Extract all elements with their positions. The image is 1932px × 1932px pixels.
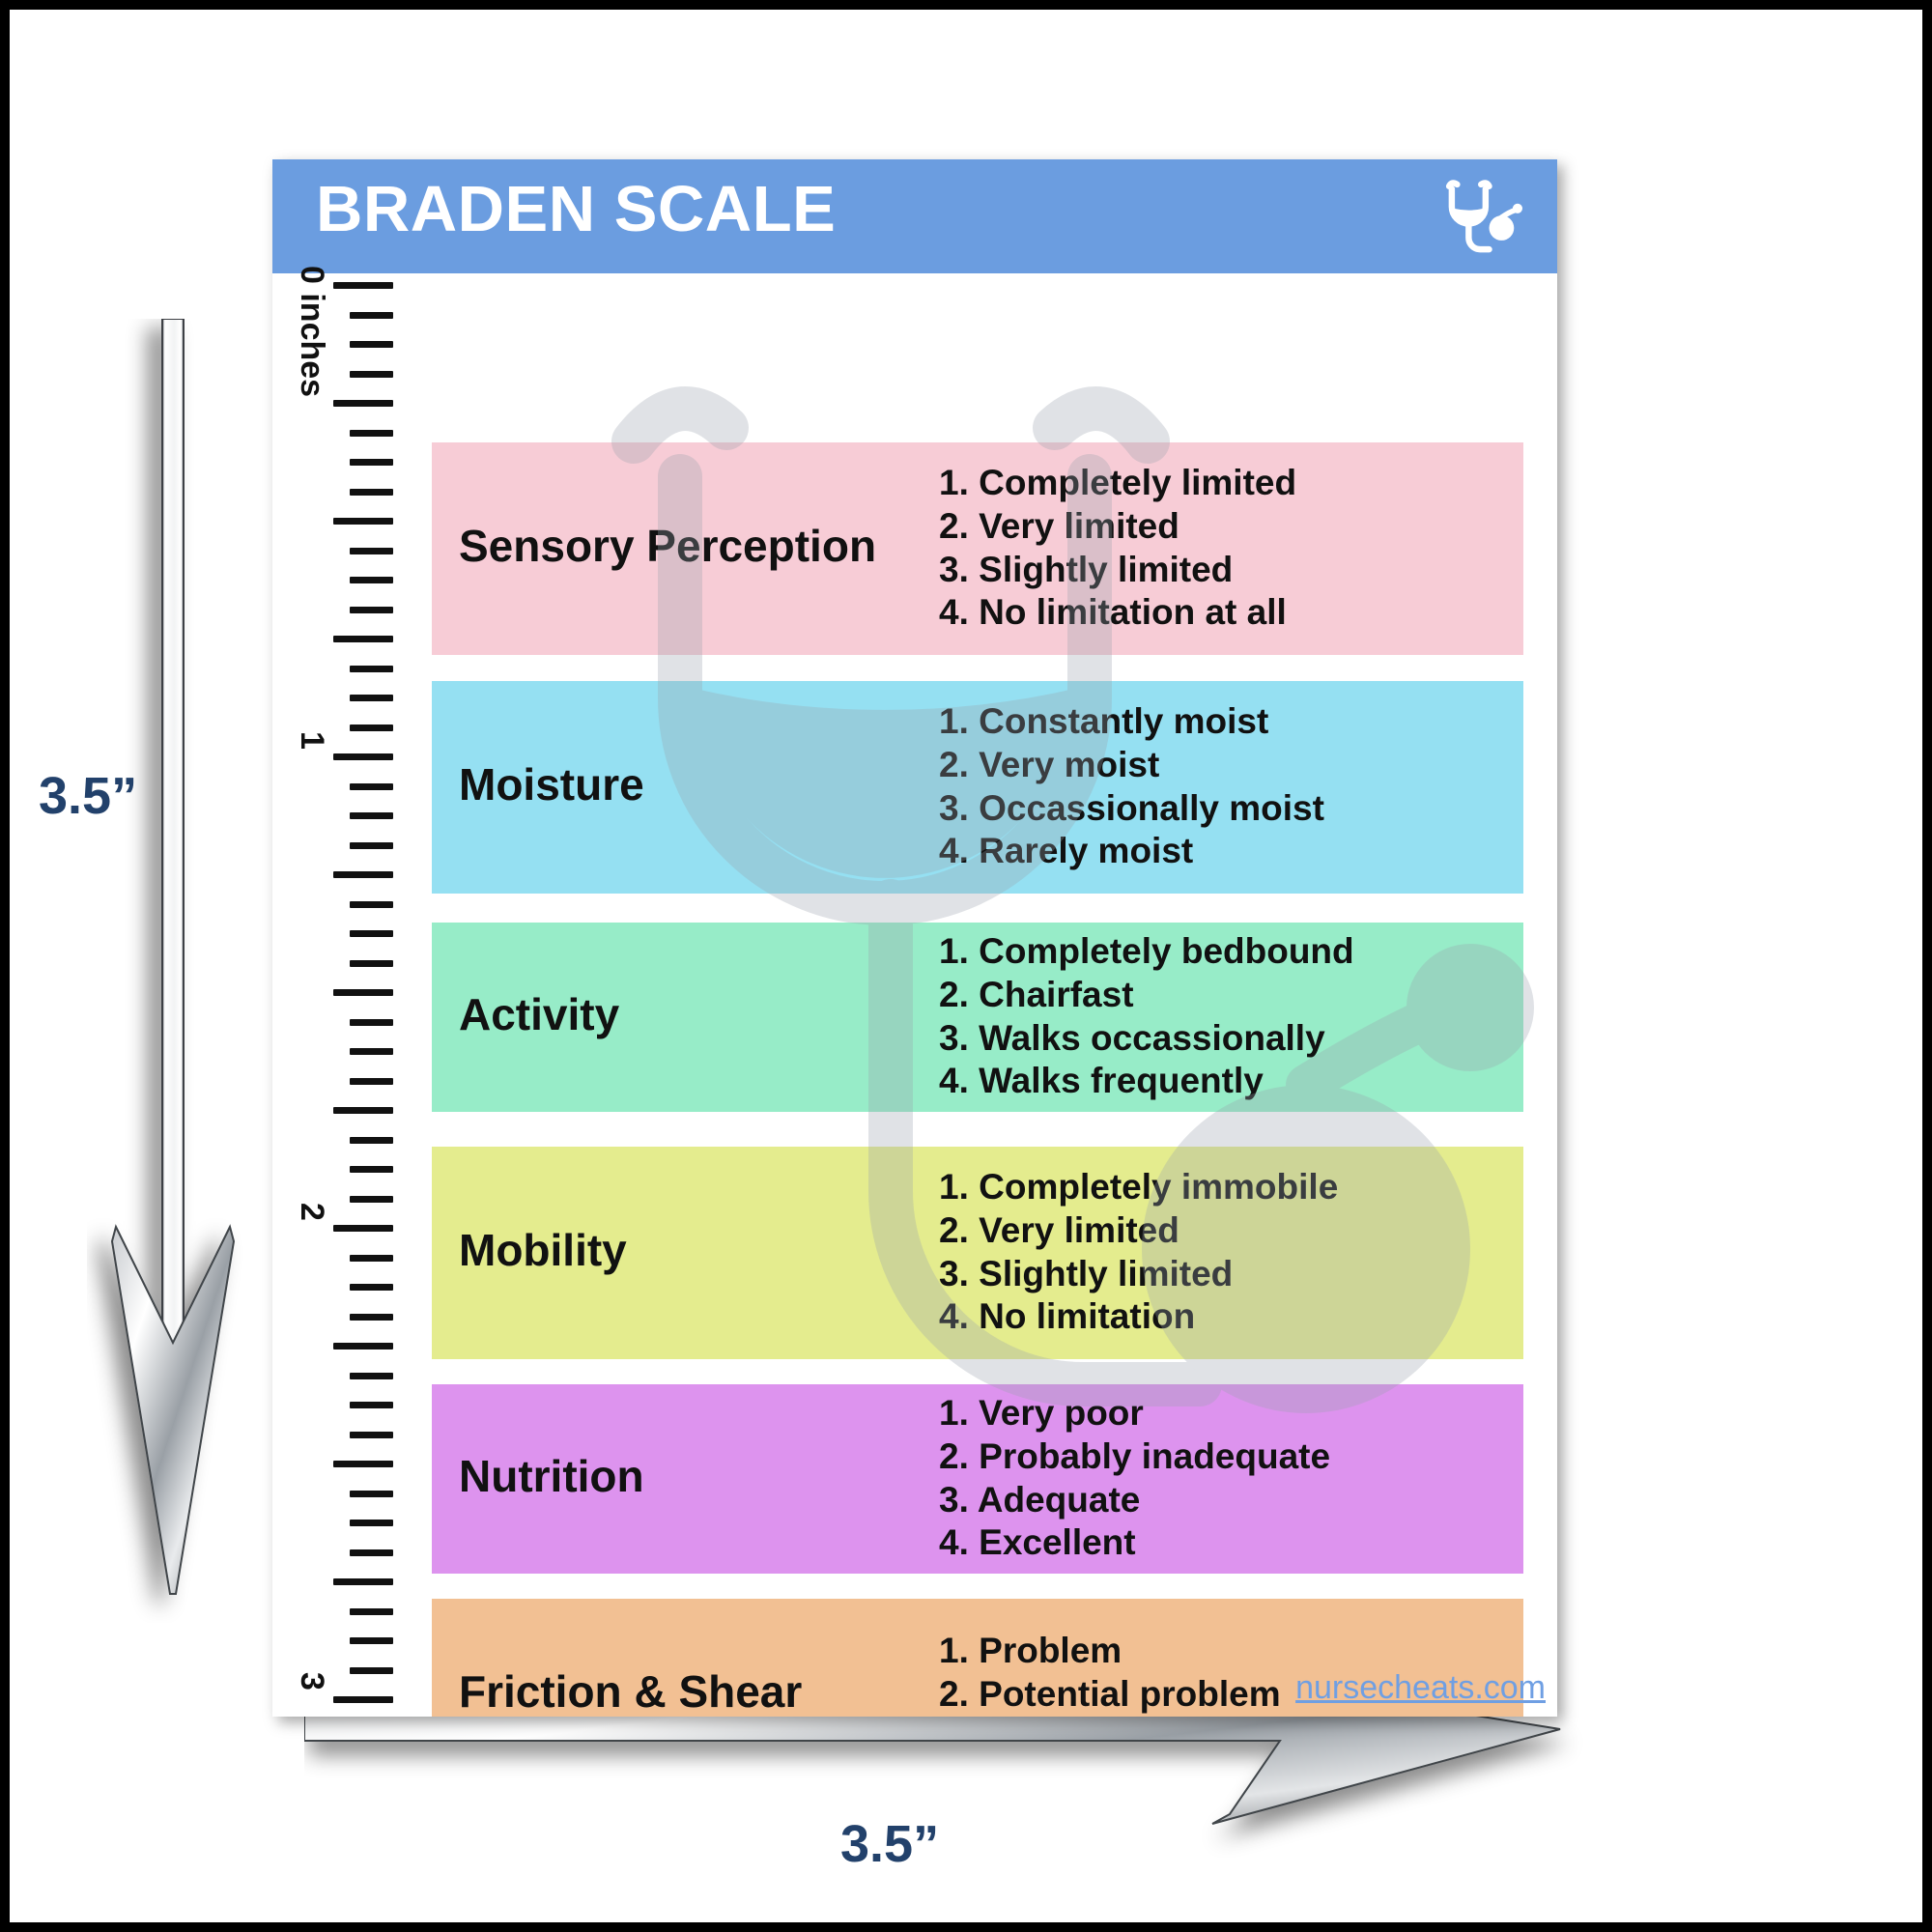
criteria-row-options: 1. Constantly moist2. Very moist3. Occas…: [939, 700, 1324, 873]
ruler-tick-major: [333, 1343, 393, 1350]
criteria-row: Mobility1. Completely immobile2. Very li…: [432, 1147, 1523, 1359]
image-border: 3.5”: [0, 0, 1932, 1932]
criteria-option: 3. Slightly limited: [939, 549, 1296, 592]
ruler-tick-minor: [350, 1078, 393, 1085]
ruler-tick-minor: [350, 341, 393, 348]
ruler-tick-minor: [350, 1314, 393, 1321]
ruler-tick-major: [333, 282, 393, 289]
ruler-label-2: 2: [293, 1203, 330, 1221]
criteria-option: 2. Very moist: [939, 744, 1324, 787]
ruler-tick-minor: [350, 430, 393, 437]
ruler-tick-minor: [350, 1019, 393, 1026]
ruler-tick-minor: [350, 1608, 393, 1615]
criteria-option: 3. Adequate: [939, 1479, 1330, 1522]
card-header: BRADEN SCALE: [272, 159, 1557, 273]
ruler-tick-minor: [350, 695, 393, 701]
ruler-tick-major: [333, 518, 393, 525]
ruler-tick-major: [333, 1696, 393, 1703]
criteria-option: 3. Occassionally moist: [939, 787, 1324, 831]
ruler-tick-minor: [350, 1284, 393, 1291]
ruler-tick-minor: [350, 1667, 393, 1674]
criteria-row-options: 1. Problem2. Potential problem3. No appa…: [939, 1630, 1338, 1717]
ruler-tick-minor: [350, 1402, 393, 1408]
criteria-option: 2. Very limited: [939, 1209, 1338, 1253]
criteria-row: Nutrition1. Very poor2. Probably inadequ…: [432, 1384, 1523, 1574]
ruler-tick-minor: [350, 842, 393, 849]
stethoscope-icon: [1439, 173, 1528, 262]
criteria-row-options: 1. Completely immobile2. Very limited3. …: [939, 1166, 1338, 1339]
criteria-row-label: Mobility: [459, 1224, 627, 1276]
ruler-tick-major: [333, 636, 393, 642]
criteria-row-options: 1. Very poor2. Probably inadequate3. Ade…: [939, 1392, 1330, 1565]
ruler-tick-minor: [350, 1637, 393, 1644]
ruler: 0 inches 1 2 3: [272, 273, 432, 1717]
ruler-tick-minor: [350, 1432, 393, 1438]
ruler-tick-minor: [350, 812, 393, 819]
ruler-label-1: 1: [293, 731, 330, 750]
ruler-tick-minor: [350, 548, 393, 554]
ruler-tick-minor: [350, 577, 393, 583]
ruler-tick-minor: [350, 1491, 393, 1497]
ruler-tick-major: [333, 1225, 393, 1232]
ruler-tick-minor: [350, 489, 393, 496]
ruler-tick-minor: [350, 1255, 393, 1262]
ruler-tick-minor: [350, 960, 393, 967]
ruler-tick-major: [333, 753, 393, 760]
criteria-row-label: Sensory Perception: [459, 520, 876, 572]
vertical-dimension-label: 3.5”: [39, 766, 137, 826]
criteria-row-label: Nutrition: [459, 1450, 644, 1502]
criteria-option: 1. Completely limited: [939, 462, 1296, 505]
ruler-tick-minor: [350, 666, 393, 672]
criteria-option: 2. Potential problem: [939, 1673, 1338, 1717]
ruler-tick-major: [333, 1107, 393, 1114]
criteria-option: 1. Completely bedbound: [939, 930, 1354, 974]
page-title: BRADEN SCALE: [316, 177, 836, 241]
ruler-tick-major: [333, 400, 393, 407]
canvas: 3.5”: [10, 10, 1922, 1922]
ruler-tick-minor: [350, 1373, 393, 1379]
ruler-tick-major: [333, 1461, 393, 1467]
criteria-option: 1. Very poor: [939, 1392, 1330, 1435]
criteria-rows: Sensory Perception1. Completely limited2…: [432, 273, 1557, 1717]
criteria-row-label: Friction & Shear: [459, 1665, 802, 1717]
criteria-row-options: 1. Completely bedbound2. Chairfast3. Wal…: [939, 930, 1354, 1103]
vertical-dimension-arrow: [87, 319, 251, 1623]
criteria-row-label: Moisture: [459, 758, 644, 810]
card-body: 0 inches 1 2 3 Sensory Perception1. Comp…: [272, 273, 1557, 1717]
criteria-row: Moisture1. Constantly moist2. Very moist…: [432, 681, 1523, 894]
criteria-option: 3. Slightly limited: [939, 1253, 1338, 1296]
ruler-tick-major: [333, 871, 393, 878]
ruler-label-3: 3: [293, 1672, 330, 1690]
site-link[interactable]: nursecheats.com: [1295, 1669, 1546, 1707]
horizontal-dimension-label: 3.5”: [840, 1814, 939, 1874]
criteria-row: Sensory Perception1. Completely limited2…: [432, 442, 1523, 655]
ruler-tick-minor: [350, 312, 393, 319]
criteria-option: 1. Constantly moist: [939, 700, 1324, 744]
criteria-option: 2. Probably inadequate: [939, 1435, 1330, 1479]
ruler-tick-minor: [350, 724, 393, 731]
braden-scale-card: BRADEN SCALE: [272, 159, 1557, 1717]
criteria-option: 4. Rarely moist: [939, 830, 1324, 873]
criteria-option: 4. No limitation at all: [939, 591, 1296, 635]
criteria-option: 2. Chairfast: [939, 974, 1354, 1017]
criteria-option: 4. Walks frequently: [939, 1060, 1354, 1103]
ruler-tick-minor: [350, 1520, 393, 1526]
ruler-tick-minor: [350, 901, 393, 908]
horizontal-dimension-arrow: [304, 1700, 1599, 1874]
ruler-tick-minor: [350, 459, 393, 466]
criteria-row-label: Activity: [459, 988, 619, 1040]
ruler-tick-minor: [350, 1196, 393, 1203]
criteria-row: Activity1. Completely bedbound2. Chairfa…: [432, 923, 1523, 1112]
criteria-option: 4. No limitation: [939, 1295, 1338, 1339]
criteria-option: 1. Problem: [939, 1630, 1338, 1673]
criteria-option: 2. Very limited: [939, 505, 1296, 549]
ruler-tick-minor: [350, 607, 393, 613]
ruler-tick-minor: [350, 371, 393, 378]
ruler-tick-major: [333, 1578, 393, 1585]
ruler-tick-minor: [350, 1166, 393, 1173]
ruler-tick-minor: [350, 1549, 393, 1556]
criteria-option: 1. Completely immobile: [939, 1166, 1338, 1209]
ruler-tick-minor: [350, 930, 393, 937]
ruler-tick-minor: [350, 1137, 393, 1144]
ruler-tick-minor: [350, 1048, 393, 1055]
criteria-option: 4. Excellent: [939, 1521, 1330, 1565]
ruler-label-0: 0 inches: [293, 266, 330, 397]
criteria-option: 3. Walks occassionally: [939, 1017, 1354, 1061]
ruler-tick-minor: [350, 783, 393, 790]
criteria-row-options: 1. Completely limited2. Very limited3. S…: [939, 462, 1296, 635]
ruler-tick-major: [333, 989, 393, 996]
